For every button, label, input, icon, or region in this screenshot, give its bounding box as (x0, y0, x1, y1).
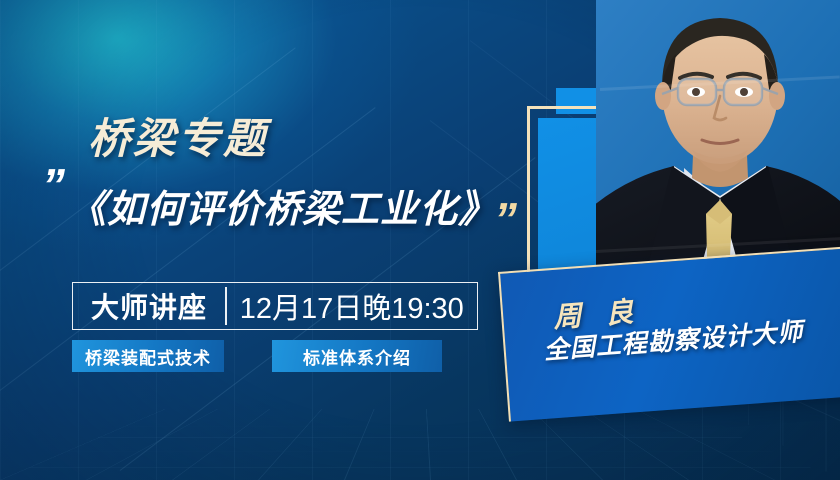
topic-tag: 桥梁装配式技术 (72, 340, 224, 372)
opening-quote-mark: ” (42, 162, 65, 208)
topic-tag: 标准体系介绍 (272, 340, 442, 372)
page-title: 桥梁专题 (88, 105, 268, 166)
closing-quote-mark: ” (494, 196, 517, 242)
speaker-nameplate: 周 良 全国工程勘察设计大师 (498, 246, 840, 421)
lecture-info-box: 大师讲座 12月17日晚19:30 (72, 282, 478, 330)
page-subtitle: 《如何评价桥梁工业化》 (68, 178, 497, 233)
lecture-type-label: 大师讲座 (73, 283, 225, 329)
webinar-poster: 周 良 全国工程勘察设计大师 ” 桥梁专题 《如何评价桥梁工业化》 ” 大师讲座… (0, 0, 840, 480)
lecture-datetime: 12月17日晚19:30 (227, 283, 478, 329)
